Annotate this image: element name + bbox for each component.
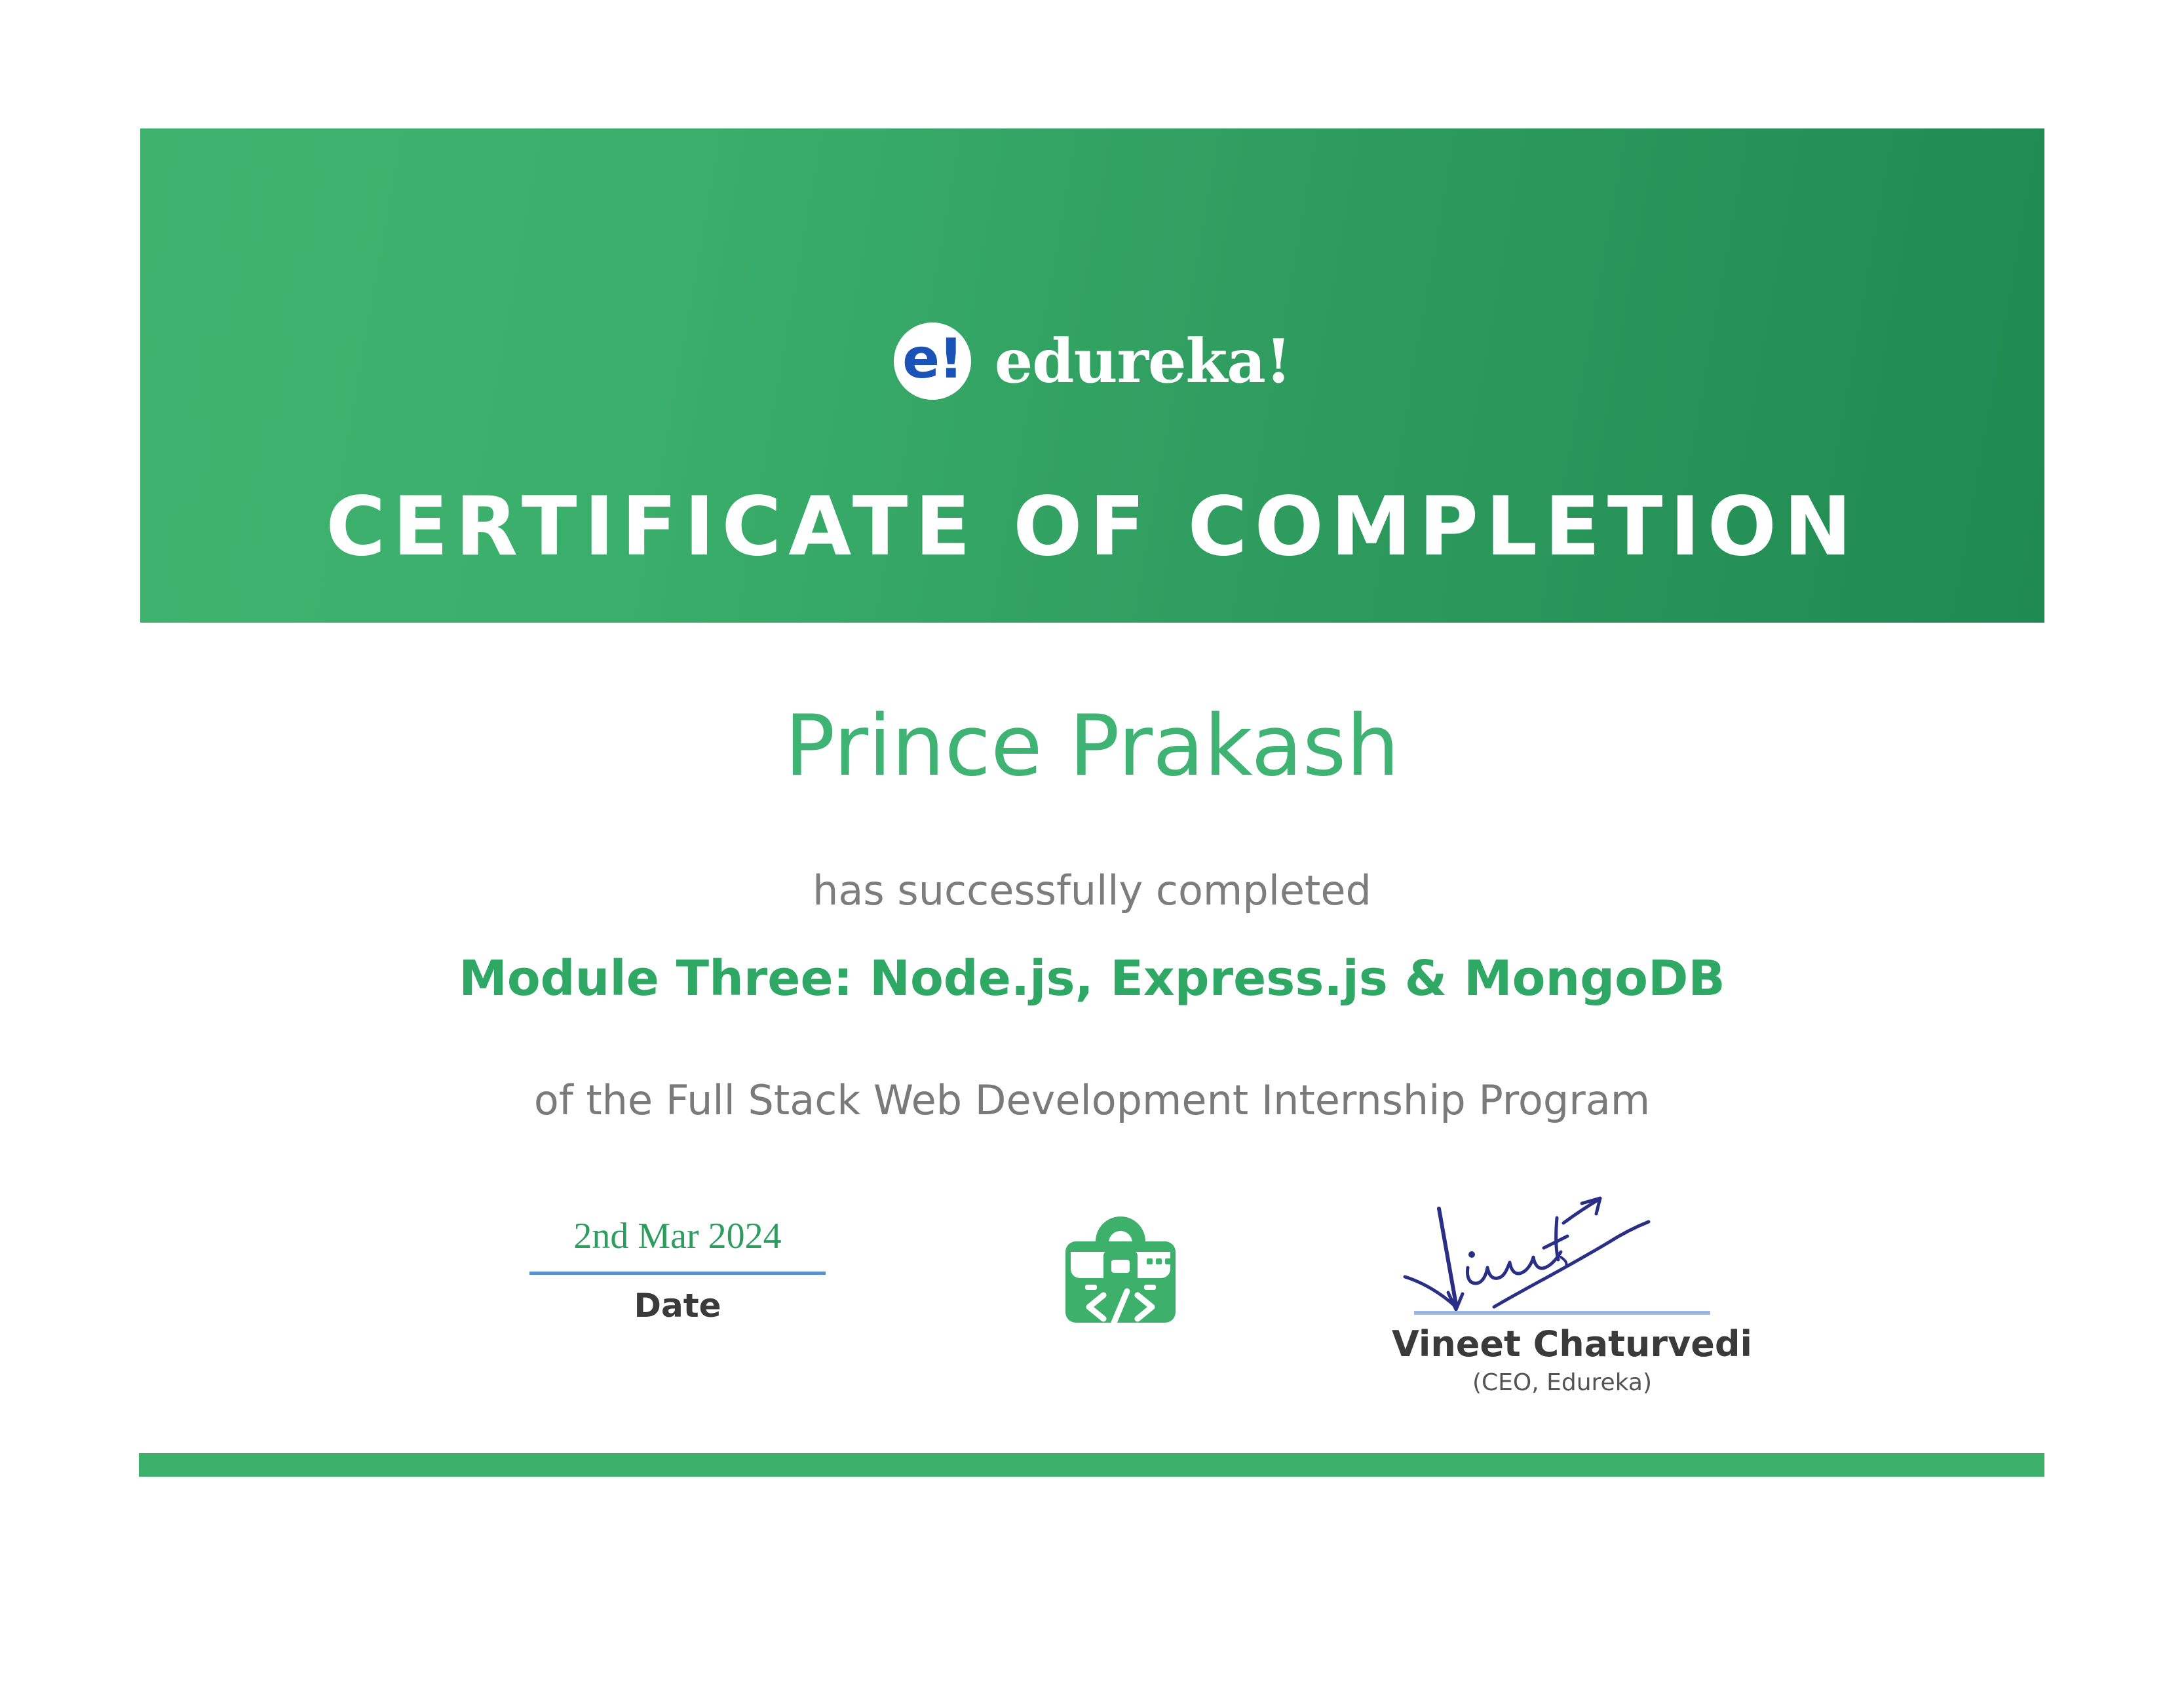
briefcase-code-icon — [1055, 1213, 1186, 1331]
logo-wordmark: edureka! — [995, 331, 1292, 391]
edureka-logo-badge: e! — [894, 322, 971, 400]
signature-rule — [1414, 1311, 1710, 1315]
completion-statement: has successfully completed — [0, 870, 2184, 911]
date-block: 2nd Mar 2024 Date — [527, 1216, 828, 1322]
date-label: Date — [527, 1289, 828, 1322]
date-rule — [529, 1272, 826, 1275]
recipient-name: Prince Prakash — [0, 705, 2184, 788]
edureka-logo: e! edureka! — [140, 322, 2044, 400]
signature-mark — [1392, 1199, 1733, 1311]
signatory-name: Vineet Chaturvedi — [1392, 1327, 1733, 1362]
signatory-role: (CEO, Edureka) — [1392, 1371, 1733, 1395]
certificate-title: CERTIFICATE OF COMPLETION — [140, 486, 2044, 568]
signature-block: Vineet Chaturvedi (CEO, Edureka) — [1392, 1199, 1733, 1395]
date-value: 2nd Mar 2024 — [527, 1216, 828, 1257]
module-title: Module Three: Node.js, Express.js & Mong… — [0, 954, 2184, 1003]
certificate-footer: 2nd Mar 2024 Date — [140, 1199, 2044, 1409]
bottom-accent-bar — [139, 1453, 2044, 1477]
certificate-header-band: e! edureka! CERTIFICATE OF COMPLETION TH… — [140, 128, 2044, 623]
logo-badge-text: e! — [902, 331, 962, 386]
program-name: of the Full Stack Web Development Intern… — [0, 1080, 2184, 1121]
